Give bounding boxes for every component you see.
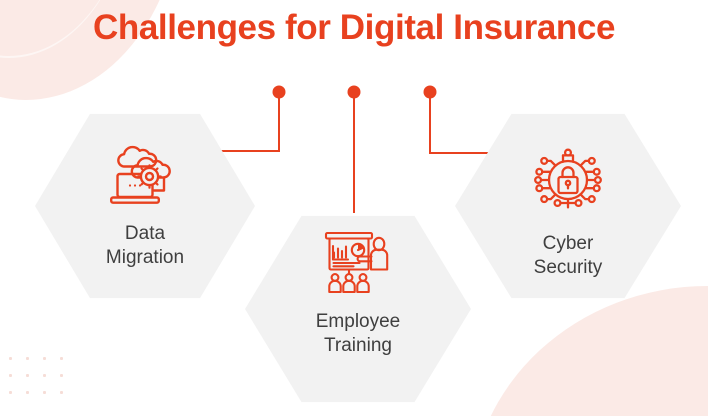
- cloud-gear-laptop-icon: [107, 144, 183, 206]
- infographic-canvas: Challenges for Digital Insurance: [0, 0, 708, 416]
- presentation-training-icon: [321, 230, 395, 296]
- connector-right-dot: [424, 86, 437, 99]
- hexagon-label-data-migration: Data Migration: [106, 222, 184, 270]
- connector-left-path: [220, 94, 279, 151]
- circuit-padlock-icon: [530, 144, 606, 216]
- connector-middle-dot: [348, 86, 361, 99]
- hexagon-label-employee-training: Employee Training: [316, 310, 401, 358]
- connector-right-path: [430, 94, 488, 153]
- connector-left-dot: [273, 86, 286, 99]
- hexagon-label-cyber-security: Cyber Security: [534, 232, 603, 280]
